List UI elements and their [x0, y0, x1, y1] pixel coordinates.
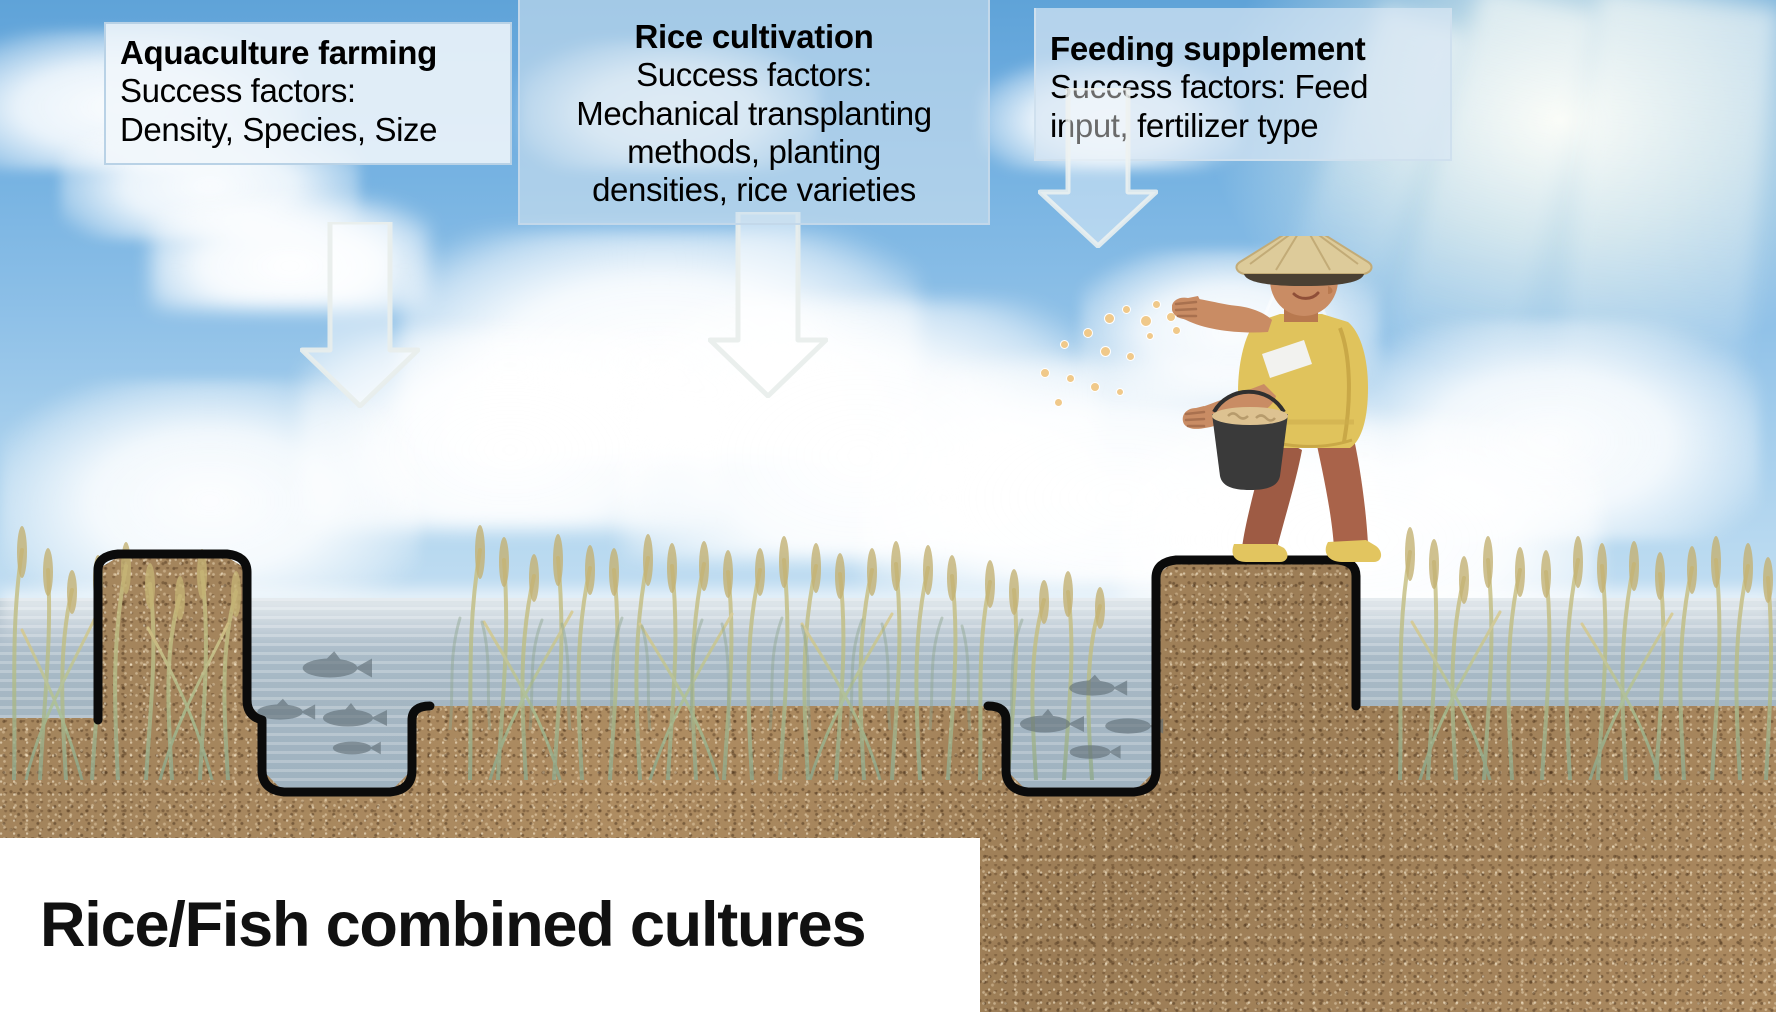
feed-grain [1100, 346, 1111, 357]
arrow-aquaculture [300, 222, 420, 408]
feed-grain [1104, 313, 1115, 324]
callout-rice-cultivation[interactable]: Rice cultivation Success factors: Mechan… [518, 0, 990, 225]
callout-line: Mechanical transplanting [534, 95, 974, 133]
feed-grain [1054, 398, 1063, 407]
feed-grain [1040, 368, 1050, 378]
feed-grain [1122, 305, 1131, 314]
arrow-feeding [1038, 88, 1158, 248]
feed-grain [1126, 352, 1135, 361]
callout-line: Success factors: [120, 72, 496, 110]
figure-title: Rice/Fish combined cultures [0, 889, 865, 961]
callout-line: Density, Species, Size [120, 111, 496, 149]
arrow-rice [708, 212, 828, 398]
feed-grain [1146, 332, 1154, 340]
feed-grain [1116, 388, 1124, 396]
callout-heading: Aquaculture farming [120, 34, 496, 72]
callout-line: Success factors: [534, 56, 974, 94]
feed-grain [1060, 340, 1069, 349]
water-haze [0, 590, 1776, 650]
farmer [1172, 236, 1432, 576]
callout-line: densities, rice varieties [534, 171, 974, 209]
feed-grain [1083, 328, 1093, 338]
callout-heading: Rice cultivation [534, 18, 974, 56]
feed-grain [1066, 374, 1075, 383]
callout-aquaculture-farming[interactable]: Aquaculture farming Success factors: Den… [104, 22, 512, 165]
feed-grain [1152, 300, 1161, 309]
feed-grain [1090, 382, 1100, 392]
callout-line: methods, planting [534, 133, 974, 171]
infographic-canvas: Aquaculture farming Success factors: Den… [0, 0, 1776, 1012]
feed-grain [1140, 315, 1152, 327]
title-band: Rice/Fish combined cultures [0, 838, 980, 1012]
callout-heading: Feeding supplement [1050, 30, 1436, 68]
